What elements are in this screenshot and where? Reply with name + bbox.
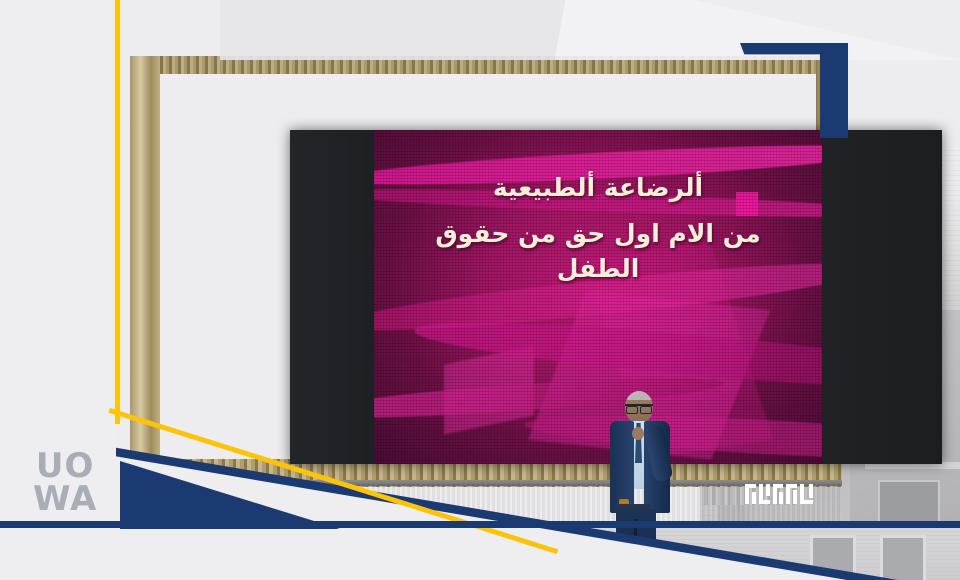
building-window [880, 535, 926, 580]
presenter-hand [632, 427, 644, 440]
slide-title-block: ألرضاعة ألطبيعية من الام اول حق من حقوق … [374, 170, 822, 287]
screen-left-dark-band [290, 130, 374, 464]
navy-bottom-bar [0, 521, 960, 528]
kufic-arabic-logo-icon [745, 482, 817, 506]
screen-right-dark-band [822, 130, 942, 464]
slide-title-line-2: من الام اول حق من حقوق [374, 216, 822, 252]
glasses-icon [625, 404, 653, 412]
slide-title-line-1: ألرضاعة ألطبيعية [374, 170, 822, 206]
slide-title-line-3: الطفل [374, 251, 822, 287]
slide-ribbon [523, 407, 822, 464]
uowa-logo: UO WA [33, 452, 97, 514]
screenshot-canvas: ألرضاعة ألطبيعية من الام اول حق من حقوق … [0, 0, 960, 580]
uowa-logo-line-1: UO [33, 452, 97, 481]
yellow-vertical-accent [115, 0, 120, 424]
uowa-logo-line-2: WA [33, 485, 97, 514]
wood-frame-left [130, 56, 160, 476]
auditorium-stage: ألرضاعة ألطبيعية من الام اول حق من حقوق … [130, 56, 842, 527]
presentation-slide: ألرضاعة ألطبيعية من الام اول حق من حقوق … [374, 130, 822, 464]
